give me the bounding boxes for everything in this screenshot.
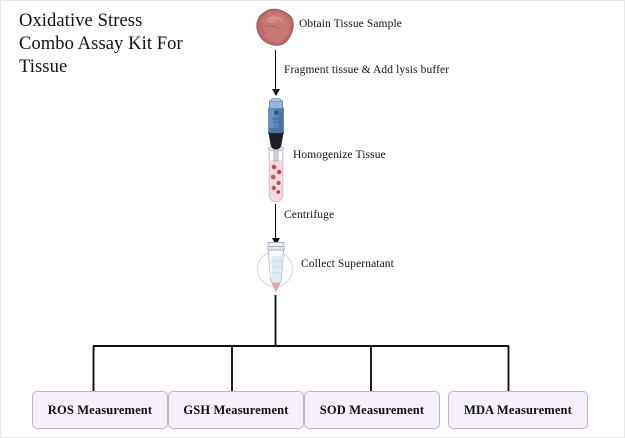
branch-connector [1,291,625,396]
step-label-collect: Collect Supernatant [301,258,394,270]
result-box-gsh: GSH Measurement [168,391,304,429]
result-box-label: SOD Measurement [320,403,424,418]
homogenizer-icon [256,97,296,203]
result-box-label: GSH Measurement [183,403,288,418]
step-label-obtain: Obtain Tissue Sample [299,18,402,30]
result-box-ros: ROS Measurement [32,391,168,429]
microcentrifuge-tube-icon [251,239,301,299]
step-label-fragment: Fragment tissue & Add lysis buffer [284,64,449,76]
result-box-label: ROS Measurement [48,403,152,418]
tissue-sample-icon [253,7,297,49]
page-title: Oxidative Stress Combo Assay Kit For Tis… [19,10,244,79]
step-label-homogenize: Homogenize Tissue [293,149,386,161]
result-box-sod: SOD Measurement [304,391,440,429]
workflow-diagram: Oxidative Stress Combo Assay Kit For Tis… [0,0,625,438]
result-box-label: MDA Measurement [464,403,572,418]
step-label-centrifuge: Centrifuge [284,209,334,221]
result-box-mda: MDA Measurement [448,391,588,429]
